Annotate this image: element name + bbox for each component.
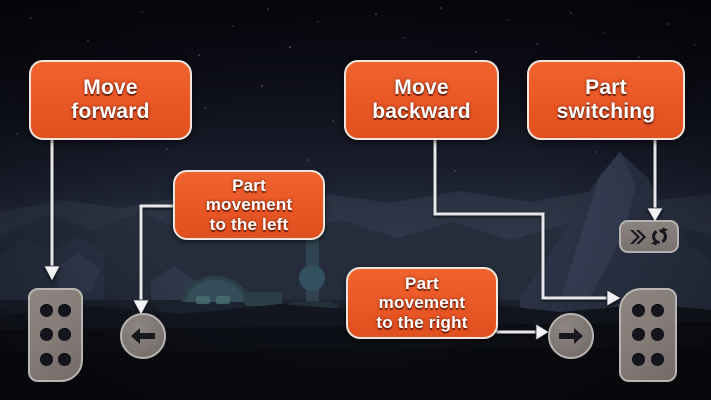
arrow-right-button[interactable]	[548, 313, 594, 359]
callout-part-switching-line2: switching	[551, 100, 662, 124]
pip-dot	[40, 353, 53, 366]
callout-part-left-line1: Part	[200, 176, 299, 196]
callout-move-backward-line1: Move	[366, 76, 476, 100]
pip-dot	[651, 353, 664, 366]
part-switch-button[interactable]	[619, 220, 679, 253]
double-chevron-right-icon	[629, 228, 647, 246]
callout-part-right-line2: movement	[370, 293, 473, 313]
arrow-right-icon	[558, 327, 584, 345]
movement-pad-left[interactable]	[28, 288, 83, 382]
arrow-left-icon	[130, 327, 156, 345]
callout-part-switching-line1: Part	[551, 76, 662, 100]
pip-dot	[58, 304, 71, 317]
callout-part-left-line2: movement	[200, 195, 299, 215]
callout-part-movement-left: Part movement to the left	[173, 170, 325, 240]
callout-part-switching: Part switching	[527, 60, 685, 140]
callout-part-movement-right: Part movement to the right	[346, 267, 498, 339]
arrow-left-button[interactable]	[120, 313, 166, 359]
callout-move-backward-line2: backward	[366, 100, 476, 124]
callout-part-left-line3: to the left	[200, 215, 299, 235]
callout-move-forward-line2: forward	[65, 100, 155, 124]
tutorial-overlay-screen: Move forward Move backward Part switchin…	[0, 0, 711, 400]
pip-dot	[651, 328, 664, 341]
arrowhead-move-forward	[44, 266, 60, 281]
callout-part-right-line3: to the right	[370, 313, 473, 333]
pip-dot	[58, 353, 71, 366]
pip-dot	[632, 304, 645, 317]
pip-dot	[632, 353, 645, 366]
pip-dot	[40, 304, 53, 317]
pip-dot	[40, 328, 53, 341]
connector-part-left	[141, 206, 173, 300]
refresh-cycle-icon	[650, 227, 669, 246]
pip-dot	[58, 328, 71, 341]
callout-move-forward-line1: Move	[65, 76, 155, 100]
callout-move-forward: Move forward	[29, 60, 192, 140]
pip-dot	[651, 304, 664, 317]
callout-part-right-line1: Part	[370, 274, 473, 294]
arrowhead-part-right	[536, 324, 549, 340]
movement-pad-right[interactable]	[619, 288, 677, 382]
callout-move-backward: Move backward	[344, 60, 499, 140]
pip-dot	[632, 328, 645, 341]
